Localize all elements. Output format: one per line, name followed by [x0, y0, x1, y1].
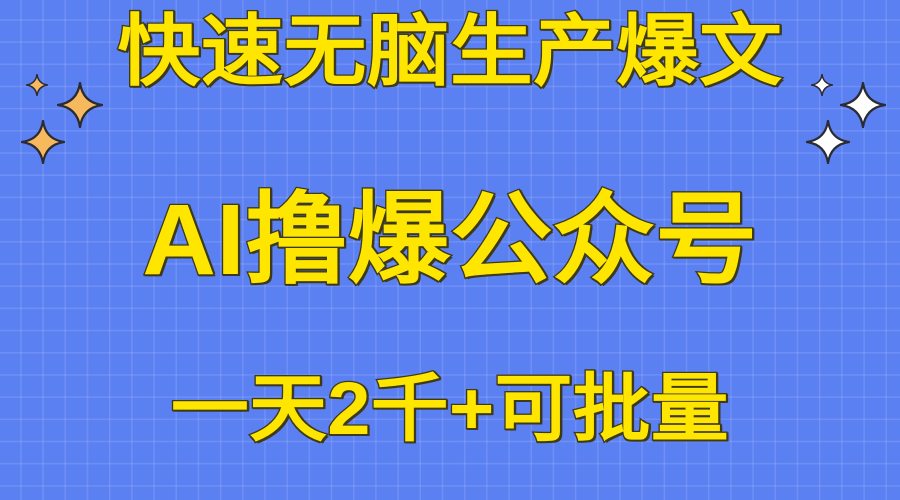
sparkle-medium-icon — [21, 120, 65, 164]
sparkle-medium-icon — [806, 120, 850, 164]
headline-line-2: AI撸爆公众号 — [0, 190, 900, 290]
headline-line-1: 快速无脑生产爆文 — [0, 12, 900, 90]
promo-poster: 快速无脑生产爆文 AI撸爆公众号 一天2千+可批量 — [0, 0, 900, 500]
headline-line-3: 一天2千+可批量 — [0, 372, 900, 446]
